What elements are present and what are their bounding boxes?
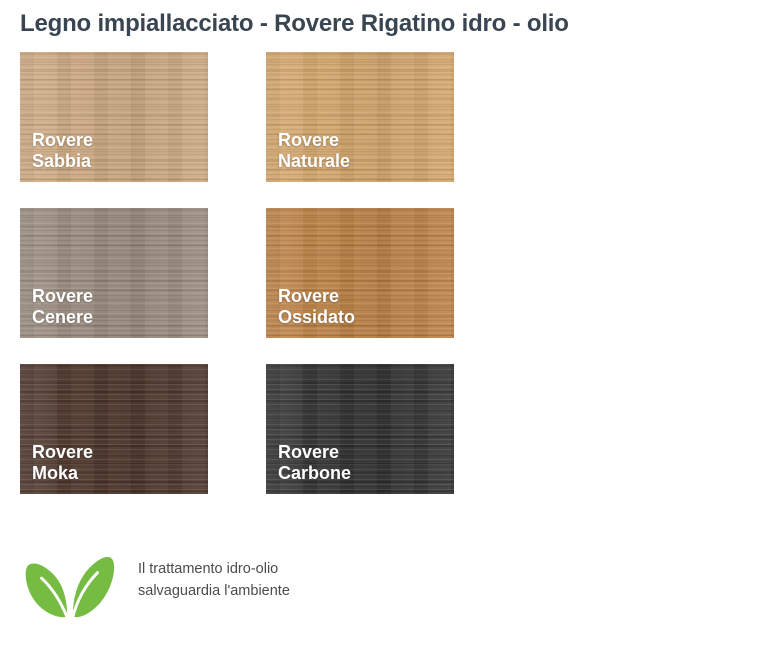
swatch-label-line1: Rovere	[278, 286, 339, 306]
swatch-label-line2: Naturale	[278, 151, 350, 172]
swatch-rovere-cenere[interactable]: Rovere Cenere	[20, 208, 208, 338]
swatch-rovere-naturale[interactable]: Rovere Naturale	[266, 52, 454, 182]
swatch-rovere-moka[interactable]: Rovere Moka	[20, 364, 208, 494]
leaf-icon	[24, 536, 116, 624]
swatch-rovere-sabbia[interactable]: Rovere Sabbia	[20, 52, 208, 182]
eco-caption-line2: salvaguardia l'ambiente	[138, 580, 290, 602]
eco-caption-line1: Il trattamento idro-olio	[138, 561, 278, 577]
leaf-right-shape	[73, 557, 114, 617]
swatch-label: Rovere Cenere	[32, 286, 93, 328]
swatch-label: Rovere Sabbia	[32, 130, 93, 172]
eco-footer: Il trattamento idro-olio salvaguardia l'…	[24, 536, 290, 624]
swatch-label: Rovere Moka	[32, 442, 93, 484]
swatch-row: Rovere Cenere Rovere Ossidato	[20, 208, 460, 338]
leaf-left-shape	[26, 564, 68, 618]
swatch-row: Rovere Sabbia Rovere Naturale	[20, 52, 460, 182]
eco-caption: Il trattamento idro-olio salvaguardia l'…	[138, 558, 290, 603]
swatch-label-line1: Rovere	[278, 130, 339, 150]
swatch-label-line1: Rovere	[32, 130, 93, 150]
swatch-label-line2: Ossidato	[278, 307, 355, 328]
wood-finish-swatch-grid: Rovere Sabbia Rovere Naturale Rovere Cen…	[20, 52, 460, 520]
swatch-label-line1: Rovere	[278, 442, 339, 462]
swatch-row: Rovere Moka Rovere Carbone	[20, 364, 460, 494]
swatch-label-line2: Cenere	[32, 307, 93, 328]
swatch-label: Rovere Naturale	[278, 130, 350, 172]
swatch-label-line1: Rovere	[32, 442, 93, 462]
swatch-label-line2: Moka	[32, 463, 93, 484]
swatch-label: Rovere Ossidato	[278, 286, 355, 328]
swatch-label-line1: Rovere	[32, 286, 93, 306]
swatch-rovere-ossidato[interactable]: Rovere Ossidato	[266, 208, 454, 338]
swatch-rovere-carbone[interactable]: Rovere Carbone	[266, 364, 454, 494]
swatch-label-line2: Sabbia	[32, 151, 93, 172]
swatch-label: Rovere Carbone	[278, 442, 351, 484]
swatch-label-line2: Carbone	[278, 463, 351, 484]
page-title: Legno impiallacciato - Rovere Rigatino i…	[20, 10, 569, 38]
